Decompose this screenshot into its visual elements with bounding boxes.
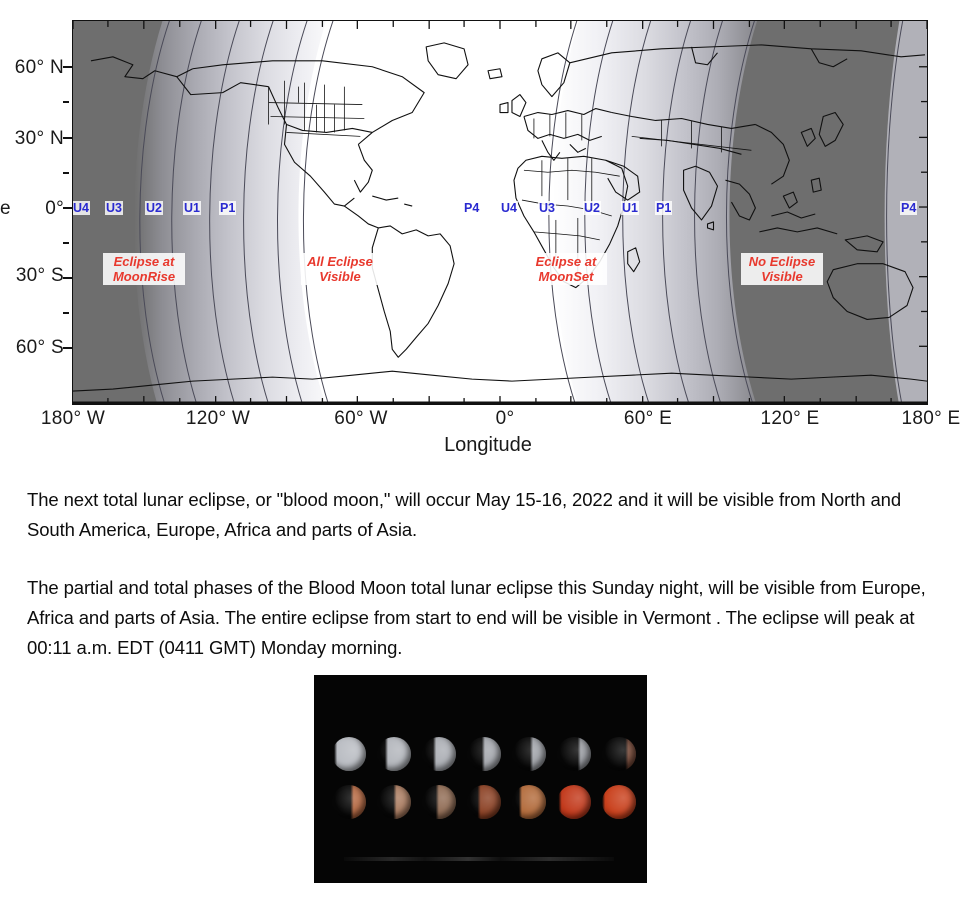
moon-phase-row-top [314,735,647,775]
annotation-no-eclipse-visible: No Eclipse Visible [741,253,823,285]
moon-phase-phase-8 [332,785,366,819]
moon-phase-phase-2 [377,737,411,771]
x-tick-label-0: 0° [450,408,560,430]
moon-phase-phase-10 [422,785,456,819]
moon-phase-phase-14 [602,785,636,819]
axis-tick [63,277,72,279]
zone-label-east-p1: P1 [655,201,672,215]
axis-tick [63,347,72,349]
axis-tick [63,101,69,103]
lunar-eclipse-phase-sequence-image [314,675,647,883]
axis-tick [63,66,72,68]
eclipse-visibility-figure: e 60° N 30° N 0° 30° S 60° S 180° W 120°… [0,0,976,470]
moon-phase-phase-4 [467,737,501,771]
zone-label-west-u2: U2 [145,201,163,215]
zone-label-east-p4: P4 [463,201,480,215]
axis-tick [63,137,72,139]
y-tick-label-60n: 60° N [2,57,64,79]
x-tick-label-180w: 180° W [18,408,128,430]
y-tick-label-30n: 30° N [2,128,64,150]
axis-tick [63,207,72,209]
moon-phase-phase-7 [602,737,636,771]
moon-phase-phase-11 [467,785,501,819]
y-tick-label-0: 0° [2,198,64,220]
x-tick-label-60e: 60° E [593,408,703,430]
zone-label-west-p1: P1 [219,201,236,215]
moon-phase-phase-9 [377,785,411,819]
moon-phase-row-bottom [314,783,647,823]
article-body: The next total lunar eclipse, or "blood … [27,485,952,691]
y-tick-label-60s: 60° S [2,337,64,359]
moon-phase-phase-1 [332,737,366,771]
annotation-all-eclipse-visible: All Eclipse Visible [301,253,379,285]
zone-label-west-u3: U3 [105,201,123,215]
annotation-eclipse-at-moonset: Eclipse at MoonSet [525,253,607,285]
moon-phase-phase-5 [512,737,546,771]
moon-phase-phase-3 [422,737,456,771]
moon-image-caption [344,857,614,861]
axis-tick [63,242,69,244]
moon-phase-phase-6 [557,737,591,771]
x-tick-label-120e: 120° E [735,408,845,430]
moon-phase-phase-12 [512,785,546,819]
zone-label-east-u2: U2 [583,201,601,215]
x-axis-title: Longitude [0,434,976,457]
article-paragraph-1: The next total lunar eclipse, or "blood … [27,485,952,545]
zone-label-east-u1: U1 [621,201,639,215]
annotation-eclipse-at-moonrise: Eclipse at MoonRise [103,253,185,285]
zone-label-west-u1: U1 [183,201,201,215]
x-tick-label-180e: 180° E [876,408,976,430]
x-tick-label-120w: 120° W [163,408,273,430]
x-tick-label-60w: 60° W [306,408,416,430]
article-paragraph-2: The partial and total phases of the Bloo… [27,573,952,663]
zone-label-west-u4: U4 [72,201,90,215]
world-map: U4 U3 U2 U1 P1 P4 U4 U3 U2 U1 P1 P4 Ecli… [72,20,928,405]
zone-label-east-u4: U4 [500,201,518,215]
moon-phase-phase-13 [557,785,591,819]
axis-tick [63,172,69,174]
y-tick-label-30s: 30° S [2,265,64,287]
zone-label-east-u3: U3 [538,201,556,215]
axis-tick [63,312,69,314]
zone-label-fareast-p4: P4 [900,201,917,215]
